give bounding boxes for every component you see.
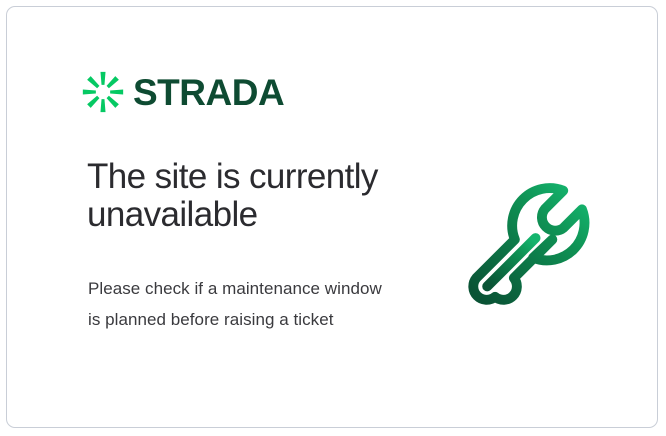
strada-asterisk-icon <box>82 71 124 113</box>
page-title: The site is currently unavailable <box>87 158 427 234</box>
page-description: Please check if a maintenance window is … <box>88 273 398 335</box>
message-card: STRADA The site is currently unavailable… <box>6 6 658 428</box>
wrench-icon <box>462 159 620 319</box>
error-page: STRADA The site is currently unavailable… <box>0 0 666 436</box>
brand-wordmark: STRADA <box>133 74 284 111</box>
brand-logo: STRADA <box>82 71 284 113</box>
